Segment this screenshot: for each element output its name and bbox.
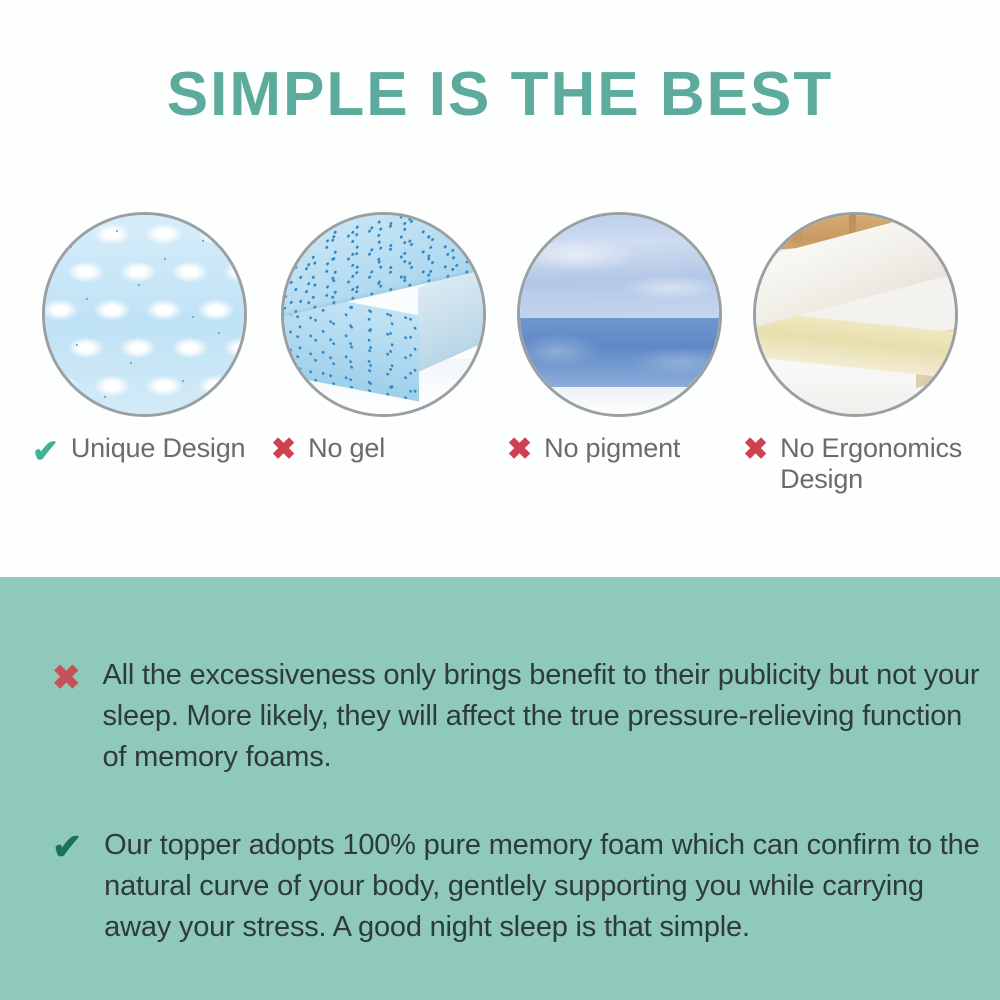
feature-item-unique-design: ✔ Unique Design (26, 212, 262, 467)
top-white-section: SIMPLE IS THE BEST (0, 0, 1000, 577)
feature-label: No gel (308, 433, 385, 464)
feature-image-circle (42, 212, 247, 417)
feature-label: No Ergonomics Design (780, 433, 973, 496)
blue-pigmented-foam-slab-photo (517, 212, 722, 417)
bottom-teal-panel: ✖ All the excessiveness only brings bene… (0, 577, 1000, 1000)
feature-caption: ✖ No gel (265, 433, 501, 465)
cross-icon: ✖ (743, 435, 768, 465)
feature-caption: ✔ Unique Design (26, 433, 262, 467)
note-text: All the excessiveness only brings benefi… (103, 655, 983, 779)
cross-icon: ✖ (271, 435, 296, 465)
feature-comparison-row: ✔ Unique Design ✖ No gel (0, 212, 1000, 542)
cross-icon: ✖ (52, 661, 81, 695)
page-title: SIMPLE IS THE BEST (0, 62, 1000, 127)
feature-image-circle (517, 212, 722, 417)
feature-caption: ✖ No Ergonomics Design (737, 433, 973, 496)
cream-foam-slab-on-bed-photo (753, 212, 958, 417)
feature-item-no-ergonomics-design: ✖ No Ergonomics Design (737, 212, 973, 496)
egg-crate-blue-foam-photo (42, 212, 247, 417)
infographic-poster: SIMPLE IS THE BEST (0, 0, 1000, 1000)
check-icon: ✔ (32, 435, 59, 467)
feature-item-no-pigment: ✖ No pigment (501, 212, 737, 465)
blue-gel-speckled-foam-block-photo (281, 212, 486, 417)
note-drawback: ✖ All the excessiveness only brings bene… (52, 655, 982, 779)
note-benefit: ✔ Our topper adopts 100% pure memory foa… (52, 825, 982, 949)
feature-label: No pigment (544, 433, 680, 464)
feature-caption: ✖ No pigment (501, 433, 737, 465)
check-icon: ✔ (52, 829, 82, 865)
feature-item-no-gel: ✖ No gel (265, 212, 501, 465)
cross-icon: ✖ (507, 435, 532, 465)
feature-label: Unique Design (71, 433, 246, 464)
note-text: Our topper adopts 100% pure memory foam … (104, 825, 982, 949)
feature-image-circle (753, 212, 958, 417)
feature-image-circle (281, 212, 486, 417)
